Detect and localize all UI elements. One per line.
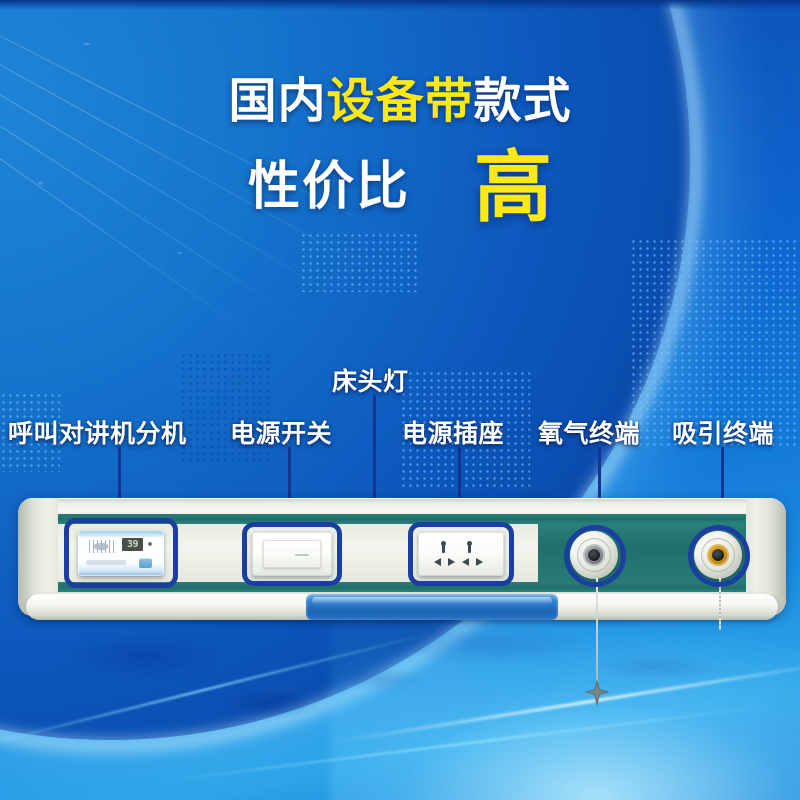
headline-line-2: 性价比高: [0, 148, 800, 226]
headline-line-1: 国内设备带款式: [0, 78, 800, 126]
callout-label-intercom: 呼叫对讲机分机: [8, 414, 187, 450]
headline-seg-value-ratio: 性价比: [248, 158, 410, 216]
highlight-circle-oxygen: [564, 525, 626, 587]
pull-cord-weight-icon: [584, 680, 610, 706]
headline-block: 国内设备带款式 性价比高: [0, 78, 800, 226]
top-edge-vignette: [0, 0, 800, 10]
pull-cord-center[interactable]: [596, 578, 598, 690]
callout-label-suction: 吸引终端: [672, 414, 774, 450]
callout-label-bed-lamp: 床头灯: [332, 362, 409, 398]
headline-seg-high: 高: [474, 143, 552, 231]
highlight-box-intercom: [64, 518, 178, 588]
callout-label-oxygen: 氧气终端: [538, 414, 640, 450]
highlight-circle-suction: [688, 525, 750, 587]
headline-seg-domestic: 国内: [228, 75, 326, 128]
headline-seg-style: 款式: [474, 75, 572, 128]
bed-lamp-gloss: [312, 597, 552, 605]
callout-label-power-socket: 电源插座: [402, 414, 504, 450]
highlight-box-power-switch: [242, 522, 342, 586]
callout-label-power-switch: 电源开关: [230, 414, 332, 450]
headline-seg-equipment-belt: 设备带: [326, 75, 473, 128]
halftone-dots-a: [300, 232, 420, 292]
highlight-box-power-socket: [408, 522, 514, 586]
poster-canvas: 国内设备带款式 性价比高 呼叫对讲机分机 电源开关 床头灯 电源插座 氧气终端 …: [0, 0, 800, 800]
